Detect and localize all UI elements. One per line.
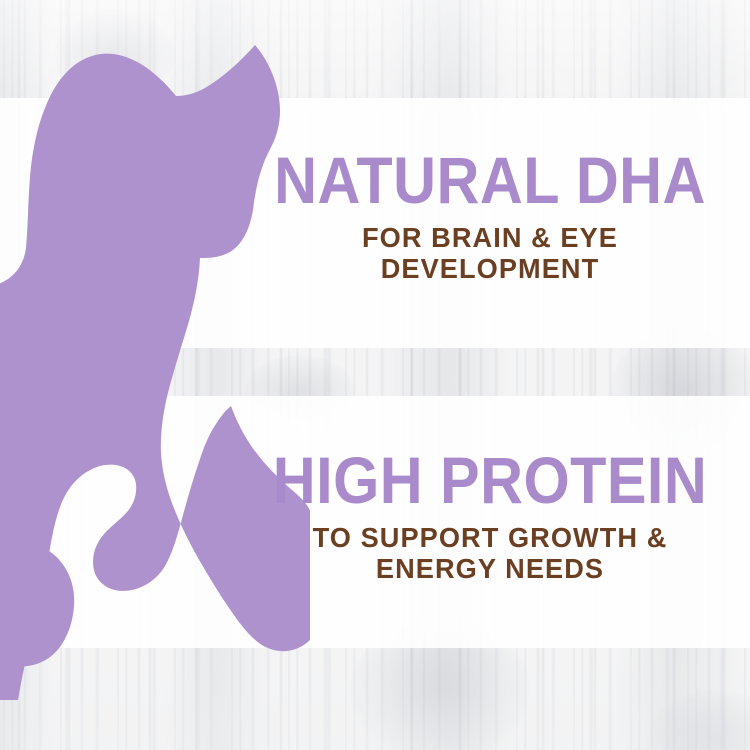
subtitle-natural-dha: FOR BRAIN & EYE DEVELOPMENT [238, 222, 742, 285]
feature-block-natural-dha: NATURAL DHA FOR BRAIN & EYE DEVELOPMENT [230, 148, 750, 284]
headline-natural-dha: NATURAL DHA [256, 148, 724, 213]
headline-high-protein: HIGH PROTEIN [256, 448, 724, 513]
subtitle-line-2: DEVELOPMENT [238, 253, 742, 284]
subtitle-line-1: FOR BRAIN & EYE [362, 222, 618, 253]
product-feature-graphic: NATURAL DHA FOR BRAIN & EYE DEVELOPMENT … [0, 0, 750, 750]
feature-block-high-protein: HIGH PROTEIN TO SUPPORT GROWTH & ENERGY … [230, 448, 750, 584]
subtitle-line-2: ENERGY NEEDS [238, 553, 742, 584]
subtitle-line-1: TO SUPPORT GROWTH & [313, 522, 668, 553]
subtitle-high-protein: TO SUPPORT GROWTH & ENERGY NEEDS [238, 522, 742, 585]
